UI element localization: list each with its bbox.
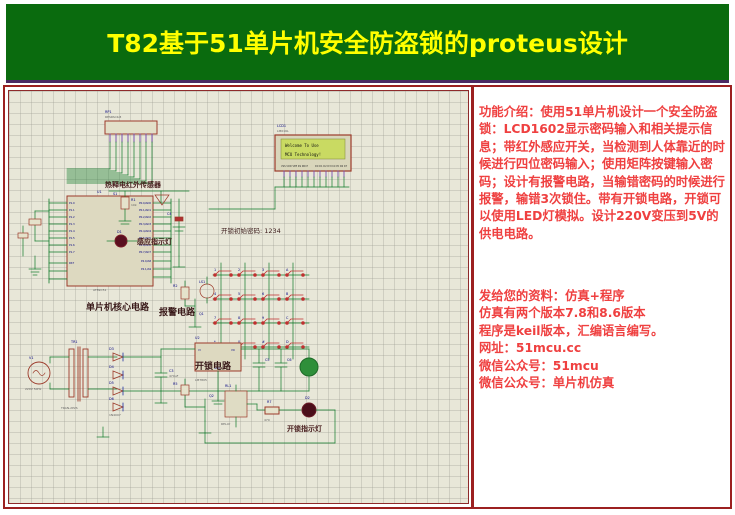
svg-text:P1.1: P1.1 xyxy=(69,208,75,212)
deliverables-paragraph: 发给您的资料：仿真+程序 仿真有两个版本7.8和8.6版本 程序是keil版本，… xyxy=(479,288,729,392)
svg-text:C5: C5 xyxy=(265,358,270,362)
component-lcd1602: LCD1 LM016L Welcome To Use MCU Technolog… xyxy=(209,124,351,209)
svg-text:RESPACK-8: RESPACK-8 xyxy=(105,115,121,119)
svg-text:C3: C3 xyxy=(169,369,174,373)
svg-text:P0.3/AD3: P0.3/AD3 xyxy=(139,222,151,226)
component-crystal-reset xyxy=(18,211,49,275)
bridge-rectifier: D3D4 D5D6 1N4007 xyxy=(109,347,161,417)
svg-text:P2.1/A9: P2.1/A9 xyxy=(141,267,151,271)
svg-text:V1: V1 xyxy=(29,356,33,360)
component-rp1: RP1 RESPACK-8 xyxy=(67,110,157,183)
svg-text:Q2: Q2 xyxy=(209,394,214,398)
svg-text:P0.0/AD0: P0.0/AD0 xyxy=(139,201,151,205)
label-mcu-core: 单片机核心电路 xyxy=(86,301,150,313)
svg-text:TRAN-2P2S: TRAN-2P2S xyxy=(60,406,78,410)
svg-text:P0.4/AD4: P0.4/AD4 xyxy=(139,229,151,233)
svg-text:D5: D5 xyxy=(109,381,114,385)
lcd-line-2: MCU Technology! xyxy=(285,152,321,157)
svg-text:P1.3: P1.3 xyxy=(69,222,75,226)
svg-text:470uF: 470uF xyxy=(169,374,179,378)
app-root: T82基于51单片机安全防盗锁的proteus设计 RP1 RESPACK-8 xyxy=(0,0,735,515)
label-initial-password: 开锁初始密码: 1234 xyxy=(221,226,281,235)
svg-text:P0.1/AD1: P0.1/AD1 xyxy=(139,208,151,212)
svg-text:TR1: TR1 xyxy=(70,340,78,344)
ground-symbols xyxy=(97,391,167,437)
svg-text:P0.7/AD7: P0.7/AD7 xyxy=(139,250,151,254)
svg-text:P1.0: P1.0 xyxy=(69,201,75,205)
svg-text:7: 7 xyxy=(214,316,216,320)
label-pir-sensor: 热释电红外传感器 xyxy=(105,180,162,189)
page-title: T82基于51单片机安全防盗锁的proteus设计 xyxy=(107,24,628,60)
svg-text:P1.4: P1.4 xyxy=(69,229,75,233)
title-banner: T82基于51单片机安全防盗锁的proteus设计 xyxy=(6,4,729,80)
svg-text:VI: VI xyxy=(198,348,201,352)
svg-text:R1: R1 xyxy=(131,198,136,202)
lcd-line-1: Welcome To Use xyxy=(285,143,319,148)
svg-text:C6: C6 xyxy=(287,358,292,362)
svg-text:D0 D1 D2 D3 D4 D5 D6 D7: D0 D1 D2 D3 D4 D5 D6 D7 xyxy=(315,165,348,168)
svg-text:R2: R2 xyxy=(173,284,178,288)
component-c4-group xyxy=(173,199,185,267)
svg-text:D3: D3 xyxy=(109,347,114,351)
component-power-supply: V1 220V 50Hz TR1 TRAN-2P2S xyxy=(25,336,318,417)
svg-text:1: 1 xyxy=(214,268,216,272)
svg-text:VO: VO xyxy=(231,348,235,352)
svg-text:P1.5: P1.5 xyxy=(69,236,75,240)
svg-text:470: 470 xyxy=(264,418,270,422)
description-paragraph: 功能介绍：使用51单片机设计一个安全防盗锁：LCD1602显示密码输入和相关提示… xyxy=(479,104,729,243)
svg-text:6: 6 xyxy=(262,292,264,296)
svg-text:1N4007: 1N4007 xyxy=(109,413,121,417)
svg-text:P1.2: P1.2 xyxy=(69,215,75,219)
svg-text:AT89C51: AT89C51 xyxy=(93,288,106,292)
svg-text:A: A xyxy=(286,268,289,272)
schematic-drawing: RP1 RESPACK-8 xyxy=(9,91,468,503)
svg-text:D6: D6 xyxy=(109,397,114,401)
svg-text:10k: 10k xyxy=(131,203,137,207)
label-sense-indicator: 感应指示灯 xyxy=(137,237,172,246)
svg-text:LM016L: LM016L xyxy=(277,129,289,133)
label-alarm-circuit: 报警电路 xyxy=(159,306,196,318)
svg-text:RL1: RL1 xyxy=(225,384,231,388)
svg-text:RP1: RP1 xyxy=(105,110,112,114)
svg-text:C: C xyxy=(286,316,289,320)
svg-text:LM7805: LM7805 xyxy=(195,378,207,382)
svg-text:4: 4 xyxy=(214,292,216,296)
svg-text:LCD1: LCD1 xyxy=(277,124,286,128)
info-panel: 功能介绍：使用51单片机设计一个安全防盗锁：LCD1602显示密码输入和相关提示… xyxy=(476,90,730,504)
banner-underline xyxy=(6,80,729,83)
svg-text:5: 5 xyxy=(238,292,240,296)
schematic-canvas[interactable]: RP1 RESPACK-8 xyxy=(8,90,469,504)
svg-text:VSS VDD VEE RS RW E: VSS VDD VEE RS RW E xyxy=(281,165,309,168)
workspace-frame: RP1 RESPACK-8 xyxy=(3,85,732,509)
svg-text:RST: RST xyxy=(69,261,74,265)
component-alarm-circuit: 报警电路 R2 LS1 xyxy=(159,277,214,327)
svg-text:P1.7: P1.7 xyxy=(69,250,75,254)
svg-text:RELAY: RELAY xyxy=(221,422,231,426)
svg-text:#: # xyxy=(262,340,265,344)
svg-text:D2: D2 xyxy=(305,396,310,400)
svg-text:B: B xyxy=(286,292,289,296)
svg-text:9: 9 xyxy=(262,316,264,320)
svg-text:LS1: LS1 xyxy=(199,280,205,284)
svg-text:D: D xyxy=(286,340,289,344)
svg-text:2: 2 xyxy=(238,268,240,272)
svg-text:D1: D1 xyxy=(117,230,122,234)
svg-text:U1: U1 xyxy=(97,190,102,194)
svg-text:220V 50Hz: 220V 50Hz xyxy=(25,387,42,391)
label-unlock-circuit: 开锁电路 xyxy=(195,360,232,372)
label-unlock-indicator: 开锁指示灯 xyxy=(287,424,322,433)
svg-text:C4: C4 xyxy=(167,212,172,216)
svg-text:P2.0/A8: P2.0/A8 xyxy=(141,259,151,263)
svg-text:U2: U2 xyxy=(195,336,200,340)
svg-text:R7: R7 xyxy=(267,400,272,404)
svg-text:Q1: Q1 xyxy=(199,312,204,316)
svg-text:3: 3 xyxy=(262,268,264,272)
keypad-switches xyxy=(214,271,305,348)
svg-text:8: 8 xyxy=(238,316,240,320)
svg-text:P1.6: P1.6 xyxy=(69,243,75,247)
svg-text:R5: R5 xyxy=(173,382,178,386)
svg-text:D4: D4 xyxy=(109,365,114,369)
svg-text:P0.2/AD2: P0.2/AD2 xyxy=(139,215,151,219)
svg-text:S1: S1 xyxy=(113,192,117,196)
pane-divider xyxy=(471,87,474,507)
